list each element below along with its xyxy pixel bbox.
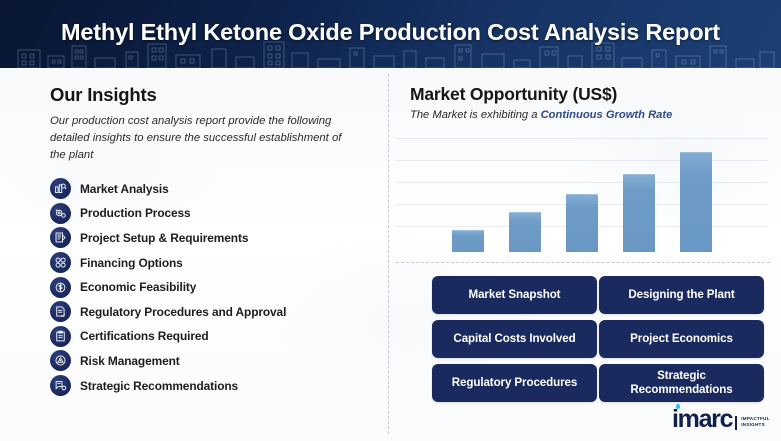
- risk-management-icon: [50, 350, 71, 371]
- list-item-label: Project Setup & Requirements: [80, 231, 248, 245]
- insights-list: Market Analysis Production Process: [50, 176, 380, 397]
- chart-bar: [623, 174, 655, 252]
- list-item-label: Risk Management: [80, 354, 180, 368]
- list-item-label: Certifications Required: [80, 329, 209, 343]
- list-item-label: Market Analysis: [80, 182, 169, 196]
- economic-feasibility-icon: [50, 277, 71, 298]
- insights-panel: Our Insights Our production cost analysi…: [50, 84, 380, 398]
- insights-subtitle: Our production cost analysis report prov…: [50, 113, 342, 164]
- section-button-strategic-recommendations[interactable]: Strategic Recommendations: [599, 364, 764, 402]
- logo-tagline-line2: INSIGHTS: [741, 422, 769, 428]
- list-item[interactable]: Market Analysis: [50, 176, 380, 201]
- list-item[interactable]: Project Setup & Requirements: [50, 226, 380, 251]
- logo-dot-icon: [676, 404, 681, 409]
- page-header: Methyl Ethyl Ketone Oxide Production Cos…: [0, 0, 781, 68]
- chart-subtitle-accent: Continuous Growth Rate: [541, 109, 673, 121]
- logo-tagline: IMPACTFUL INSIGHTS: [735, 416, 769, 430]
- chart-subtitle: The Market is exhibiting a Continuous Gr…: [410, 109, 770, 121]
- chart-bar: [452, 230, 484, 252]
- report-infographic: Methyl Ethyl Ketone Oxide Production Cos…: [0, 0, 781, 441]
- production-process-icon: [50, 203, 71, 224]
- market-analysis-icon: [50, 178, 71, 199]
- section-button-regulatory-procedures[interactable]: Regulatory Procedures: [432, 364, 597, 402]
- market-opportunity-panel: Market Opportunity (US$) The Market is e…: [410, 84, 770, 121]
- list-item-label: Regulatory Procedures and Approval: [80, 305, 286, 319]
- regulatory-procedures-icon: [50, 301, 71, 322]
- imarc-logo[interactable]: imarc IMPACTFUL INSIGHTS: [672, 409, 770, 430]
- chart-bar: [680, 152, 712, 252]
- insights-title: Our Insights: [50, 84, 380, 106]
- section-button-project-economics[interactable]: Project Economics: [599, 320, 764, 358]
- list-item[interactable]: Production Process: [50, 201, 380, 226]
- financing-options-icon: [50, 252, 71, 273]
- list-item[interactable]: Regulatory Procedures and Approval: [50, 299, 380, 324]
- chart-title: Market Opportunity (US$): [410, 84, 770, 105]
- list-item-label: Economic Feasibility: [80, 280, 196, 294]
- strategic-recommendations-icon: [50, 375, 71, 396]
- chart-bars: [452, 140, 712, 252]
- list-item[interactable]: Economic Feasibility: [50, 275, 380, 300]
- report-title: Methyl Ethyl Ketone Oxide Production Cos…: [0, 0, 781, 68]
- report-sections-grid: Market Snapshot Designing the Plant Capi…: [432, 276, 764, 402]
- chart-bar: [566, 194, 598, 252]
- list-item-label: Strategic Recommendations: [80, 379, 238, 393]
- vertical-divider: [388, 74, 389, 434]
- list-item-label: Production Process: [80, 206, 191, 220]
- horizontal-divider: [396, 262, 770, 263]
- list-item[interactable]: Financing Options: [50, 250, 380, 275]
- project-setup-icon: [50, 227, 71, 248]
- certifications-icon: [50, 326, 71, 347]
- section-button-capital-costs-involved[interactable]: Capital Costs Involved: [432, 320, 597, 358]
- section-button-market-snapshot[interactable]: Market Snapshot: [432, 276, 597, 314]
- list-item-label: Financing Options: [80, 256, 183, 270]
- list-item[interactable]: Risk Management: [50, 349, 380, 374]
- list-item[interactable]: Strategic Recommendations: [50, 373, 380, 398]
- market-opportunity-chart: [396, 134, 768, 252]
- chart-subtitle-plain: The Market is exhibiting a: [410, 109, 541, 121]
- logo-wordmark: imarc: [672, 409, 732, 430]
- chart-bar: [509, 212, 541, 252]
- section-button-designing-the-plant[interactable]: Designing the Plant: [599, 276, 764, 314]
- logo-word-text: imarc: [672, 409, 732, 430]
- list-item[interactable]: Certifications Required: [50, 324, 380, 349]
